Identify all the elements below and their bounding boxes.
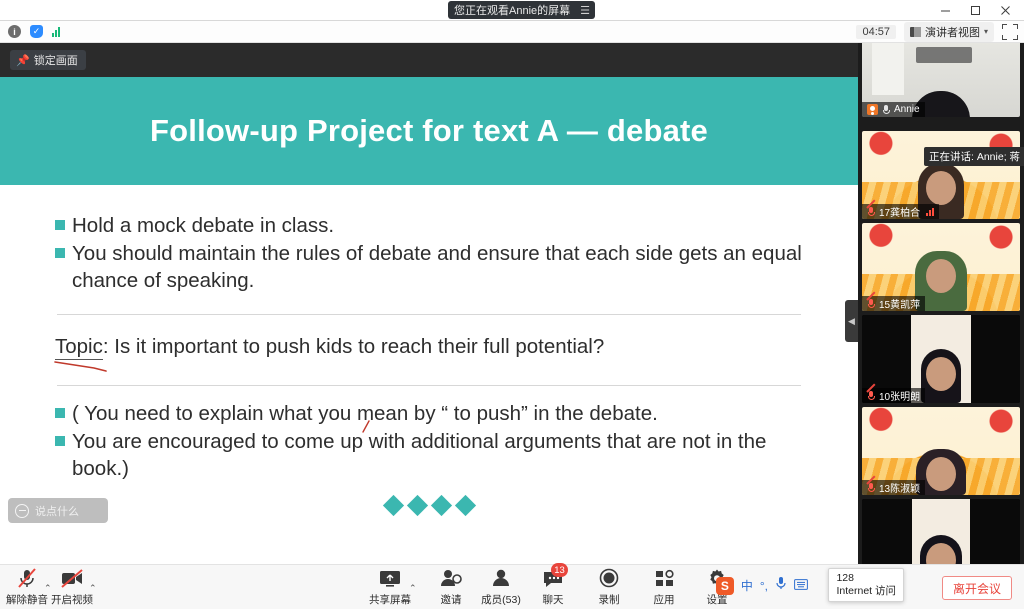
mic-muted-icon <box>867 299 875 309</box>
video-tile[interactable]: 13陈淑颖 <box>862 407 1020 495</box>
network-access-tooltip: 128 Internet 访问 <box>828 568 904 602</box>
apps-button[interactable]: 应用 <box>637 568 691 607</box>
bullet-square-icon <box>55 248 65 258</box>
ime-keyboard-icon[interactable] <box>794 577 808 595</box>
slide-divider <box>57 314 801 315</box>
network-tooltip-line2: Internet 访问 <box>836 585 896 598</box>
meeting-info-icons: i ✓ <box>0 25 60 38</box>
maximize-icon[interactable] <box>960 0 990 21</box>
record-label: 录制 <box>599 592 620 607</box>
list-item: ( You need to explain what you mean by “… <box>55 400 803 427</box>
bullet-text: You are encouraged to come up with addit… <box>72 428 803 482</box>
meeting-timer: 04:57 <box>856 25 896 39</box>
invite-button[interactable]: 邀请 <box>424 568 478 607</box>
network-tooltip-line1: 128 <box>836 572 896 585</box>
video-tile[interactable] <box>862 499 1020 564</box>
red-annotation-underline <box>54 360 112 372</box>
say-something-input[interactable]: 说点什么 <box>8 498 108 523</box>
filmstrip-scroll-up[interactable]: chevron-up-icon <box>916 47 972 63</box>
tile-name-bar: 13陈淑颖 <box>862 480 925 495</box>
host-icon <box>867 104 878 115</box>
invite-label: 邀请 <box>441 592 462 607</box>
window-controls <box>930 0 1020 21</box>
meeting-toolbar: 解除静音 ⌃ 开启视频 ⌃ 共享屏幕 <box>0 564 1024 609</box>
unmute-label: 解除静音 <box>6 592 48 607</box>
participant-name: Annie <box>894 104 920 115</box>
chat-bubble-icon <box>15 504 29 518</box>
view-mode-label: 演讲者视图 <box>925 24 980 40</box>
hamburger-icon[interactable]: ☰ <box>580 4 589 17</box>
presentation-slide: Follow-up Project for text A — debate Ho… <box>0 77 858 564</box>
invite-user-icon <box>440 568 462 589</box>
watching-screen-tooltip: 您正在观看Annie的屏幕 ☰ <box>448 1 595 19</box>
slide-divider <box>57 385 801 386</box>
apps-label: 应用 <box>654 592 675 607</box>
chat-unread-badge: 13 <box>551 563 568 577</box>
info-icon[interactable]: i <box>8 25 21 38</box>
diamond-icon <box>406 495 427 516</box>
share-screen-icon <box>378 568 402 589</box>
participant-name: 10张明朗 <box>879 388 920 403</box>
chevron-down-icon: ▾ <box>984 27 988 36</box>
ime-mic-icon[interactable] <box>775 576 787 595</box>
tile-name-bar: Annie <box>862 102 925 117</box>
chat-label: 聊天 <box>543 592 564 607</box>
bullet-text: Hold a mock debate in class. <box>72 212 334 239</box>
leave-meeting-button[interactable]: 离开会议 <box>942 576 1012 600</box>
speaking-indicator-toast: 正在讲话: Annie; 蒋 <box>924 147 1024 166</box>
bullet-square-icon <box>55 408 65 418</box>
say-something-label: 说点什么 <box>35 503 79 519</box>
view-mode-dropdown[interactable]: 演讲者视图 ▾ <box>904 22 994 42</box>
topic-question: : Is it important to push kids to reach … <box>103 335 604 358</box>
video-tile[interactable]: 10张明朗 <box>862 315 1020 403</box>
slide-title: Follow-up Project for text A — debate <box>0 77 858 185</box>
participants-label: 成员(53) <box>481 592 521 607</box>
red-annotation-tick <box>358 419 374 435</box>
minimize-icon[interactable] <box>930 0 960 21</box>
participant-name: 17龚柏合 <box>879 204 920 219</box>
slide-body: Hold a mock debate in class. You should … <box>0 185 858 564</box>
shared-screen-stage: 📌 锁定画面 Follow-up Project for text A — de… <box>0 43 858 564</box>
video-tile[interactable]: 17龚柏合 <box>862 131 1020 219</box>
speaking-indicator-label: 正在讲话: Annie; 蒋 <box>929 149 1020 164</box>
collapse-filmstrip-handle[interactable]: ◀ <box>845 300 858 342</box>
slide-diamond-decoration <box>55 498 803 513</box>
start-video-label: 开启视频 <box>51 592 93 607</box>
pin-icon: 📌 <box>16 54 30 67</box>
video-off-icon <box>60 568 84 589</box>
meeting-info-bar: i ✓ 04:57 演讲者视图 ▾ <box>0 21 1024 43</box>
record-icon <box>599 568 619 589</box>
ime-toolbar: S 中 °, <box>716 576 808 595</box>
diamond-icon <box>430 495 451 516</box>
tile-name-bar: 15黄凯萍 <box>862 296 925 311</box>
tile-name-bar: 10张明朗 <box>862 388 925 403</box>
participants-button[interactable]: 成员(53) <box>474 568 528 607</box>
ime-punctuation-toggle[interactable]: °, <box>760 579 768 593</box>
mic-muted-icon <box>867 391 875 401</box>
pin-screen-button[interactable]: 📌 锁定画面 <box>10 50 86 70</box>
apps-grid-icon <box>653 568 675 589</box>
slide-bullets-top: Hold a mock debate in class. You should … <box>55 212 803 294</box>
bullet-text: You should maintain the rules of debate … <box>72 240 803 294</box>
participant-name: 15黄凯萍 <box>879 296 920 311</box>
bullet-square-icon <box>55 220 65 230</box>
ime-mode-chinese[interactable]: 中 <box>741 577 753 594</box>
list-item: Hold a mock debate in class. <box>55 212 803 239</box>
close-icon[interactable] <box>990 0 1020 21</box>
speaker-view-icon <box>910 27 921 37</box>
mic-muted-icon <box>867 207 875 217</box>
record-button[interactable]: 录制 <box>582 568 636 607</box>
participant-name: 13陈淑颖 <box>879 480 920 495</box>
shield-icon[interactable]: ✓ <box>30 25 43 38</box>
video-feed <box>862 499 1020 564</box>
fullscreen-icon[interactable] <box>1002 24 1018 40</box>
mic-icon <box>882 105 890 115</box>
video-options-caret[interactable]: ⌃ <box>89 583 97 594</box>
video-tile[interactable]: 15黄凯萍 <box>862 223 1020 311</box>
share-options-caret[interactable]: ⌃ <box>409 583 417 594</box>
share-screen-label: 共享屏幕 <box>369 592 411 607</box>
slide-bullets-bottom: ( You need to explain what you mean by “… <box>55 400 803 482</box>
zoom-meeting-window: 您正在观看Annie的屏幕 ☰ i ✓ 04:57 演讲者视图 ▾ 📌 <box>0 0 1024 609</box>
bullet-square-icon <box>55 436 65 446</box>
audio-level-icon <box>926 208 934 216</box>
list-item: You should maintain the rules of debate … <box>55 240 803 294</box>
participants-icon <box>490 568 512 589</box>
topic-label: Topic <box>55 335 103 360</box>
watching-screen-label: 您正在观看Annie的屏幕 <box>454 2 570 18</box>
sogou-ime-logo-icon[interactable]: S <box>716 577 734 595</box>
chat-icon: 13 <box>541 568 565 589</box>
diamond-icon <box>382 495 403 516</box>
tile-name-bar: 17龚柏合 <box>862 204 939 219</box>
diamond-icon <box>454 495 475 516</box>
meeting-view-controls: 04:57 演讲者视图 ▾ <box>856 22 1024 42</box>
participant-filmstrip: Annie chevron-up-icon 正在讲话: Annie; 蒋 17龚… <box>858 43 1024 564</box>
slide-topic-line: Topic: Is it important to push kids to r… <box>55 335 803 359</box>
signal-bars-icon[interactable] <box>52 26 60 37</box>
pin-screen-label: 锁定画面 <box>34 52 78 68</box>
list-item: You are encouraged to come up with addit… <box>55 428 803 482</box>
mic-muted-icon <box>867 483 875 493</box>
mic-off-icon <box>17 568 37 589</box>
chat-button[interactable]: 13 聊天 <box>526 568 580 607</box>
